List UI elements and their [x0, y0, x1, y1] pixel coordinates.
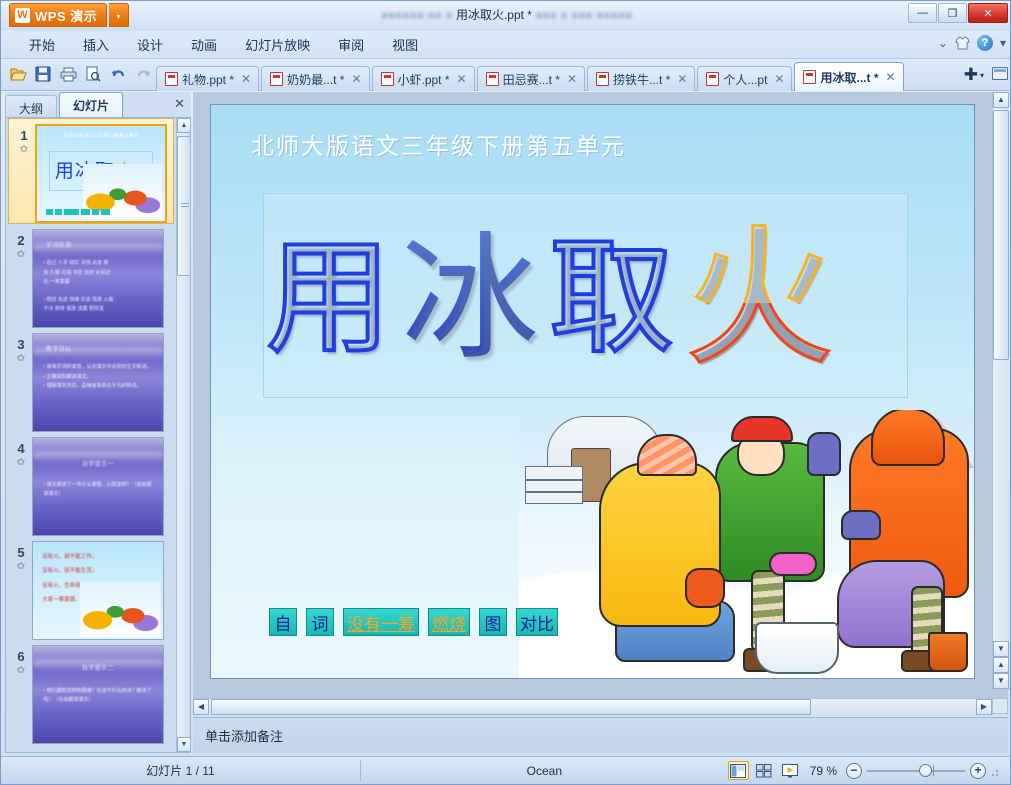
skin-icon[interactable] — [955, 36, 970, 50]
minimize-button[interactable]: — — [908, 3, 937, 23]
presentation-file-icon — [486, 72, 499, 86]
thumb-body: 课文讲述了一件什么事情，心情怎样？（自由朗读课文） — [43, 481, 155, 500]
menu-item-design[interactable]: 设计 — [123, 32, 177, 57]
previous-slide-button[interactable]: ▲ — [993, 657, 1009, 673]
menu-item-slideshow[interactable]: 幻灯片放映 — [231, 32, 324, 57]
scroll-left-button[interactable]: ◀ — [193, 699, 209, 715]
link-button-tu[interactable]: 图 — [479, 608, 507, 636]
person-green-cap — [731, 416, 793, 442]
link-button-duibi[interactable]: 对比 — [516, 608, 558, 636]
thumbnail-scroll-down-button[interactable]: ▼ — [177, 737, 191, 752]
thumb-title: 教学目标 — [46, 344, 72, 353]
maximize-button[interactable]: ❐ — [938, 3, 967, 23]
thumb-title: 自学提示二 — [33, 663, 163, 672]
animation-star-icon: ✩ — [10, 456, 32, 469]
file-tab-label: 奶奶最...t * — [287, 71, 344, 88]
theme-name: Ocean — [361, 764, 728, 778]
status-bar: 幻灯片 1 / 11 Ocean — [1, 756, 1011, 784]
zoom-slider-knob[interactable] — [919, 764, 932, 777]
link-button-meiyouyichou[interactable]: 没有一筹 — [343, 608, 419, 636]
file-tab-close-icon[interactable]: ✕ — [457, 72, 467, 86]
open-file-icon[interactable] — [7, 63, 29, 85]
presentation-file-icon — [165, 72, 178, 86]
animation-star-icon: ✩ — [10, 352, 32, 365]
thumbnail-scroll-region: 1 ✩ 北师大版语文三年级下册第五单元 用冰取火 — [6, 118, 177, 752]
file-tab-label: 礼物.ppt * — [182, 71, 234, 88]
red-mitten — [685, 568, 725, 608]
new-tab-dropdown-icon[interactable]: ▾ — [980, 71, 984, 80]
white-pot — [755, 622, 839, 674]
slide-navigator-pane: 大纲 幻灯片 ✕ 1 ✩ 北师大版语文三年级下册第五单元 用冰取火 — [5, 92, 191, 753]
thumb-illustration — [80, 581, 161, 637]
file-tab-1[interactable]: 奶奶最...t * ✕ — [261, 66, 369, 91]
help-dropdown-icon[interactable]: ▾ — [1000, 36, 1006, 50]
presentation-file-icon — [803, 70, 816, 84]
thumbnail-item-2[interactable]: 2 ✩ 字词检测 自己 人手 烧红 寻找 出去 祭 身 久居 冷洞 书念 出办 … — [6, 224, 177, 328]
thumb-title: 自学提示一 — [33, 459, 163, 468]
thumbnail-item-3[interactable]: 3 ✩ 教学目标 读准字词的读音，认识课文中出现的生字新词。 正确流利朗读课文。… — [6, 328, 177, 432]
zoom-level-label: 79 % — [810, 764, 837, 778]
menu-right-group: ⌄ ? ▾ — [938, 35, 1006, 51]
slide-horizontal-scrollbar[interactable]: ◀ ▶ — [193, 698, 992, 714]
thumbnail-preview: 没有火，就不能工作。 没有火，就不能生活。 没有火，生命就无法成功。 大家一筹莫… — [32, 541, 164, 640]
thumbnail-preview: 字词检测 自己 人手 烧红 寻找 出去 祭 身 久居 冷洞 书念 出办 天另边 … — [32, 229, 164, 328]
wps-presentation-window: ■■■■■■ ■■ ■ 用冰取火.ppt * ■■■ ■ ■■■ ■■■■■ W… — [0, 0, 1011, 785]
menu-item-start[interactable]: 开始 — [15, 32, 69, 57]
link-button-ranshao[interactable]: 燃烧 — [428, 608, 470, 636]
thumbnail-scroll-up-button[interactable]: ▲ — [177, 118, 191, 133]
file-tab-close-icon[interactable]: ✕ — [886, 70, 896, 84]
blurred-left-text: ■■■■■■ ■■ ■ — [381, 8, 453, 22]
normal-view-button[interactable] — [728, 761, 749, 780]
menu-item-insert[interactable]: 插入 — [69, 32, 123, 57]
link-button-zi[interactable]: 自 — [269, 608, 297, 636]
presentation-file-icon — [596, 72, 609, 86]
menu-item-review[interactable]: 审阅 — [324, 32, 378, 57]
notes-pane[interactable]: 单击添加备注 — [193, 717, 1008, 753]
thumbnail-item-5[interactable]: 5 ✩ 没有火，就不能工作。 没有火，就不能生活。 没有火，生命就无法成功。 大… — [6, 536, 177, 640]
help-icon[interactable]: ? — [977, 35, 993, 51]
animation-star-icon: ✩ — [10, 664, 32, 677]
title-bar: ■■■■■■ ■■ ■ 用冰取火.ppt * ■■■ ■ ■■■ ■■■■■ W… — [1, 1, 1011, 31]
chevron-down-icon[interactable]: ⌄ — [938, 36, 948, 50]
file-tab-0[interactable]: 礼物.ppt * ✕ — [156, 66, 259, 91]
thumb-body: 自己 人手 烧红 寻找 出去 祭 身 久居 冷洞 书念 出办 天另边 无 一筹莫… — [43, 259, 155, 315]
new-tab-icon[interactable]: ✚ — [964, 65, 978, 85]
animation-star-icon: ✩ — [13, 143, 35, 156]
zoom-slider[interactable] — [867, 763, 965, 779]
thumbnail-number: 5 ✩ — [10, 541, 32, 573]
slide-heading-text[interactable]: 北师大版语文三年级下册第五单元 — [251, 127, 626, 161]
resize-grip-icon[interactable] — [991, 768, 1000, 777]
scrollbar-corner — [992, 698, 1008, 714]
file-tab-label: 小虾.ppt * — [398, 71, 450, 88]
thumbnail-list: 1 ✩ 北师大版语文三年级下册第五单元 用冰取火 — [5, 117, 191, 753]
document-title-wrap: ■■■■■■ ■■ ■ 用冰取火.ppt * ■■■ ■ ■■■ ■■■■■ — [1, 1, 1011, 29]
slide-wordart-title[interactable]: 用 冰 取 火 — [266, 195, 926, 405]
blue-mitten-2 — [841, 510, 881, 540]
file-tab-close-icon[interactable]: ✕ — [351, 72, 361, 86]
file-tab-close-icon[interactable]: ✕ — [774, 72, 784, 86]
thumb-title: 北师大版语文三年级下册第五单元 — [37, 132, 165, 139]
presentation-file-icon — [706, 72, 719, 86]
thumb-body: 他们遇到怎样的困难？在这个什么办法？解决了吗？（自由朗读课文） — [43, 687, 155, 706]
redo-icon[interactable] — [132, 63, 154, 85]
file-tab-label: 田忌赛...t * — [503, 71, 560, 88]
vertical-scrollbar-thumb[interactable] — [993, 110, 1009, 360]
thumbnail-number: 1 ✩ — [13, 124, 35, 156]
file-tab-4[interactable]: 捞铁牛...t * ✕ — [587, 66, 695, 91]
slide-counter: 幻灯片 1 / 11 — [1, 760, 361, 782]
menu-item-animation[interactable]: 动画 — [177, 32, 231, 57]
animation-star-icon: ✩ — [10, 248, 32, 261]
file-tab-label: 用冰取...t * — [820, 69, 878, 86]
thumbnail-item-6[interactable]: 6 ✩ 自学提示二 他们遇到怎样的困难？在这个什么办法？解决了吗？（自由朗读课文… — [6, 640, 177, 744]
thumbnail-scrollbar-thumb[interactable] — [177, 136, 191, 276]
status-right-group: 79 % − + — [728, 761, 1011, 780]
pink-mitten — [769, 552, 817, 576]
slide-edit-area: 北师大版语文三年级下册第五单元 用 冰 取 火 — [193, 92, 1008, 714]
document-title: 用冰取火.ppt * — [456, 8, 532, 22]
app-name: WPS 演示 — [35, 6, 97, 25]
file-tab-close-icon[interactable]: ✕ — [241, 72, 251, 86]
menu-bar: 开始 插入 设计 动画 幻灯片放映 审阅 视图 ⌄ ? ▾ — [1, 31, 1011, 59]
file-tab-6-active[interactable]: 用冰取...t * ✕ — [794, 62, 903, 91]
window-controls: — ❐ ✕ — [908, 3, 1008, 23]
horizontal-scrollbar-thumb[interactable] — [211, 699, 811, 715]
thumbnail-preview: 自学提示一 课文讲述了一件什么事情，心情怎样？（自由朗读课文） — [32, 437, 164, 536]
link-button-ci[interactable]: 词 — [306, 608, 334, 636]
thumbnail-item-4[interactable]: 4 ✩ 自学提示一 课文讲述了一件什么事情，心情怎样？（自由朗读课文） — [6, 432, 177, 536]
tab-outline[interactable]: 大纲 — [5, 95, 57, 117]
thumbnail-scrollbar[interactable]: ▲ ▼ — [176, 118, 190, 752]
orange-bucket — [928, 632, 968, 672]
scroll-right-button[interactable]: ▶ — [976, 699, 992, 715]
print-preview-icon[interactable] — [82, 63, 104, 85]
wps-logo-icon: W — [15, 8, 30, 23]
zoom-slider-tick — [933, 765, 934, 776]
next-slide-button[interactable]: ▼ — [993, 673, 1009, 689]
thumbnail-preview: 教学目标 读准字词的读音，认识课文中出现的生字新词。 正确流利朗读课文。 理解课… — [32, 333, 164, 432]
file-tab-5[interactable]: 个人...pt ✕ — [697, 66, 792, 91]
file-tab-label: 捞铁牛...t * — [613, 71, 670, 88]
crate-shape — [525, 466, 583, 504]
blue-mitten-1 — [807, 432, 841, 476]
thumb-title: 字词检测 — [46, 240, 72, 249]
file-tab-3[interactable]: 田忌赛...t * ✕ — [477, 66, 585, 91]
save-icon[interactable] — [32, 63, 54, 85]
thumbnail-number: 2 ✩ — [10, 229, 32, 261]
thumb-link-row — [46, 209, 110, 215]
slide-canvas[interactable]: 北师大版语文三年级下册第五单元 用 冰 取 火 — [210, 104, 975, 679]
thumbnail-preview: 北师大版语文三年级下册第五单元 用冰取火 — [35, 124, 167, 223]
scroll-up-button[interactable]: ▲ — [993, 92, 1009, 108]
file-tab-close-icon[interactable]: ✕ — [677, 72, 687, 86]
tab-slides[interactable]: 幻灯片 — [59, 92, 123, 117]
person-orange-hood — [871, 410, 945, 466]
print-icon[interactable] — [57, 63, 79, 85]
file-tab-label: 个人...pt — [723, 71, 767, 88]
slide-sorter-view-button[interactable] — [754, 761, 775, 780]
close-button[interactable]: ✕ — [968, 3, 1008, 23]
wps-app-badge[interactable]: W WPS 演示 — [9, 3, 107, 27]
undo-icon[interactable] — [107, 63, 129, 85]
animation-star-icon: ✩ — [10, 560, 32, 573]
slide-link-button-row: 自 词 没有一筹 燃烧 图 对比 — [269, 608, 558, 636]
close-navigator-icon[interactable]: ✕ — [174, 96, 185, 112]
toolbar-and-tabs-row: ▾ 礼物.ppt * ✕ 奶奶最...t * ✕ 小虾.ppt * ✕ 田忌赛.… — [1, 59, 1011, 91]
wordart-char-qu: 取 — [549, 238, 674, 363]
presentation-file-icon — [270, 72, 283, 86]
slideshow-view-button[interactable] — [780, 761, 801, 780]
new-tab-group: ✚ ▾ — [964, 65, 984, 85]
file-tab-strip: 礼物.ppt * ✕ 奶奶最...t * ✕ 小虾.ppt * ✕ 田忌赛...… — [156, 62, 906, 91]
winter-children-illustration[interactable] — [519, 410, 974, 678]
zoom-in-button[interactable]: + — [970, 763, 986, 779]
thumbnail-preview: 自学提示二 他们遇到怎样的困难？在这个什么办法？解决了吗？（自由朗读课文） — [32, 645, 164, 744]
thumb-body: 读准字词的读音，认识课文中出现的生字新词。 正确流利朗读课文。 理解课文内容，品… — [43, 363, 155, 392]
menu-item-view[interactable]: 视图 — [378, 32, 432, 57]
file-tab-close-icon[interactable]: ✕ — [567, 72, 577, 86]
thumbnail-number: 6 ✩ — [10, 645, 32, 677]
zoom-out-button[interactable]: − — [846, 763, 862, 779]
thumbnail-item-1[interactable]: 1 ✩ 北师大版语文三年级下册第五单元 用冰取火 — [8, 118, 174, 224]
file-tab-2[interactable]: 小虾.ppt * ✕ — [372, 66, 475, 91]
wordart-char-huo: 火 — [684, 225, 834, 375]
app-menu-dropdown-icon[interactable]: ▾ — [109, 3, 129, 27]
scrollbar-grip-icon — [181, 203, 189, 209]
presentation-file-icon — [381, 72, 394, 86]
slide-vertical-scrollbar[interactable]: ▲ ▼ ▲ ▼ — [992, 92, 1008, 689]
thumbnail-number: 4 ✩ — [10, 437, 32, 469]
thumbnail-number: 3 ✩ — [10, 333, 32, 365]
wordart-char-bing: 冰 — [401, 231, 539, 369]
navigator-tabs: 大纲 幻灯片 — [5, 92, 125, 117]
scroll-down-button[interactable]: ▼ — [993, 641, 1009, 657]
blurred-right-text: ■■■ ■ ■■■ ■■■■■ — [535, 8, 632, 22]
window-list-icon[interactable] — [992, 67, 1008, 80]
wordart-char-yong: 用 — [266, 238, 391, 363]
